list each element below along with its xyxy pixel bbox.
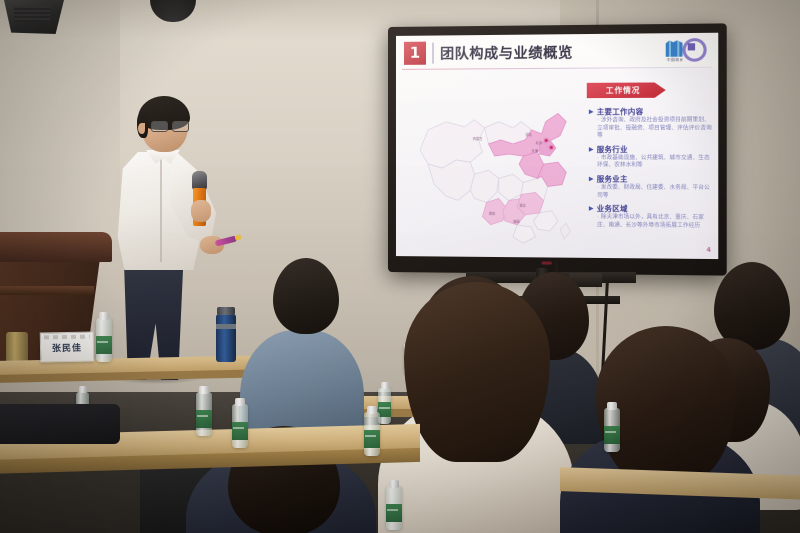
bullet-arrow-icon: ▶ <box>589 145 594 154</box>
bottle-cap <box>99 312 109 320</box>
slide-header: 1 团队构成与业绩概览 中国城乡 <box>396 33 718 70</box>
bullet-heading-0: 主要工作内容 <box>597 107 644 116</box>
bottle-cap <box>607 402 617 410</box>
namecard-text: 张民佳 <box>41 341 93 355</box>
bottle-label <box>232 422 248 440</box>
bottle-label <box>364 430 380 448</box>
presenter-ear <box>138 123 145 134</box>
thermos-flask <box>216 314 236 362</box>
bottle-label <box>96 336 112 354</box>
flat-panel-display: 1 团队构成与业绩概览 中国城乡 <box>388 23 727 275</box>
logo-subtext: 中国城乡 <box>667 58 684 63</box>
bottle-cap <box>389 480 399 488</box>
bullet-body-2: · 发改委、财政局、住建委、水务局、平台公司等 <box>597 185 712 201</box>
presenter-hand-mic <box>191 200 211 222</box>
display-screen: 1 团队构成与业绩概览 中国城乡 <box>396 33 718 259</box>
bullet-heading-row: ▶ 主要工作内容 <box>589 107 712 117</box>
slide-page-number: 4 <box>706 247 710 254</box>
bullet-arrow-icon: ▶ <box>589 107 594 116</box>
title-divider <box>432 43 434 64</box>
map-label-tianjin: 天津 <box>532 148 539 153</box>
bullet-body-text-0: 涉外咨询、政府及社会投资项目前期策划、立项审批、投融资、项目管理、评估评价咨询等 <box>597 117 712 139</box>
namecard-left: 张民佳 <box>40 332 95 363</box>
map-label-neimenggu: 内蒙古 <box>473 136 483 141</box>
map-label-hubei: 湖北 <box>519 203 526 208</box>
podium-top <box>0 232 112 262</box>
bottle-cap <box>367 406 377 414</box>
bullet-heading-3: 业务区域 <box>597 204 628 213</box>
bottle-label <box>604 426 620 444</box>
audience-head <box>273 258 339 334</box>
speaker-grill <box>14 6 50 22</box>
shirt-placket <box>160 158 162 262</box>
bullet-body-text-3: 除天津市场以外，具有北京、重庆、石家庄、南通、长沙等外埠市场拓展工作经历 <box>597 214 704 229</box>
presentation-slide: 1 团队构成与业绩概览 中国城乡 <box>396 33 718 259</box>
audience-hair <box>596 326 736 484</box>
logo-square-icon <box>688 43 695 50</box>
wall-speaker-icon <box>4 0 64 34</box>
bullet-heading-2: 服务业主 <box>597 174 628 183</box>
bottle-label <box>196 410 212 428</box>
map-pin-tianjin <box>550 146 553 149</box>
water-bottle <box>196 392 212 436</box>
work-summary-banner-label: 工作情况 <box>606 85 640 96</box>
lens-right <box>172 121 189 132</box>
map-label-hebei: 河北 <box>525 132 532 137</box>
lens-left <box>151 121 168 132</box>
map-label-beijing: 北京 <box>536 140 543 145</box>
bottle-cap <box>235 398 245 406</box>
bullet-list: ▶ 主要工作内容 · 涉外咨询、政府及社会投资项目前期策划、立项审批、投融资、项… <box>589 103 712 231</box>
bullet-body-3: · 除天津市场以外，具有北京、重庆、石家庄、南通、长沙等外埠市场拓展工作经历 <box>597 214 712 230</box>
bullet-body-text-2: 发改委、财政局、住建委、水务局、平台公司等 <box>597 185 710 199</box>
map-label-chongqing: 重庆 <box>489 211 496 216</box>
bullet-body-1: · 市政基础设施、公共建筑、城市交通、生态环保、农林水利等 <box>597 155 712 171</box>
bottle-cap <box>381 382 389 389</box>
thermos-band <box>216 324 236 329</box>
bullet-heading-1: 服务行业 <box>597 145 628 154</box>
bullet-heading-row: ▶ 服务业主 <box>589 174 712 184</box>
water-bottle <box>364 412 380 456</box>
china-map: 内蒙古 河北 北京 天津 重庆 湖北 湖南 <box>412 77 587 252</box>
water-bottle <box>232 404 248 448</box>
bullet-body-text-1: 市政基础设施、公共建筑、城市交通、生态环保、农林水利等 <box>597 155 710 169</box>
water-bottle <box>386 486 402 530</box>
china-map-svg <box>412 77 587 252</box>
logo-bars-icon <box>666 40 683 57</box>
map-label-hunan: 湖南 <box>513 219 520 224</box>
bullet-arrow-icon: ▶ <box>589 204 594 213</box>
water-bottle <box>604 408 620 452</box>
bullet-body-0: · 涉外咨询、政府及社会投资项目前期策划、立项审批、投融资、项目管理、评估评价咨… <box>597 117 712 141</box>
work-summary-banner: 工作情况 <box>587 82 666 98</box>
podium-trim <box>0 286 94 295</box>
eyeglasses-icon <box>151 121 189 130</box>
bullet-heading-row: ▶ 服务行业 <box>589 145 712 154</box>
namecard-rule <box>44 335 90 340</box>
presentation-room-photo: 1 团队构成与业绩概览 中国城乡 <box>0 0 800 533</box>
audience-hair <box>404 282 550 462</box>
audience-head <box>714 262 790 350</box>
bullet-arrow-icon: ▶ <box>589 174 594 183</box>
section-number-badge: 1 <box>404 42 426 65</box>
slide-title: 团队构成与业绩概览 <box>440 42 573 63</box>
bullet-heading-row: ▶ 业务区域 <box>589 204 712 214</box>
bottle-cap <box>79 386 87 393</box>
display-power-led <box>542 261 552 264</box>
bottle-label <box>386 504 402 522</box>
audience-body <box>240 330 364 440</box>
foreground-monitor <box>0 404 120 444</box>
water-bottle <box>96 318 112 362</box>
thermos-lid <box>217 307 235 315</box>
bottle-cap <box>199 386 209 394</box>
company-logo: 中国城乡 <box>666 38 708 65</box>
map-pin-beijing <box>545 139 548 142</box>
